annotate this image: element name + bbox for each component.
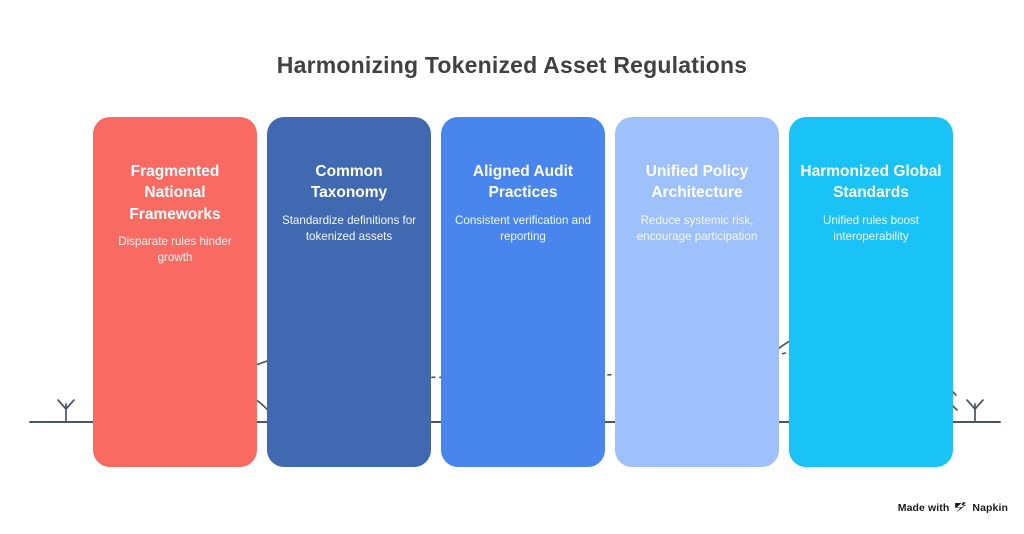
infographic-canvas: Harmonizing Tokenized Asset Regulations [0, 0, 1024, 534]
card-fragmented-national-frameworks[interactable]: Fragmented National Frameworks Disparate… [93, 117, 257, 467]
card-row: Fragmented National Frameworks Disparate… [0, 0, 1024, 534]
card-title: Fragmented National Frameworks [103, 161, 247, 225]
napkin-watermark: Made with Napkin [898, 501, 1008, 514]
card-description: Consistent verification and reporting [451, 213, 595, 245]
card-description: Unified rules boost interoperability [799, 213, 943, 245]
card-description: Disparate rules hinder growth [103, 234, 247, 266]
card-harmonized-global-standards[interactable]: Harmonized Global Standards Unified rule… [789, 117, 953, 467]
card-title: Aligned Audit Practices [451, 161, 595, 204]
card-title: Harmonized Global Standards [799, 161, 943, 204]
card-description: Reduce systemic risk, encourage particip… [625, 213, 769, 245]
watermark-brand: Napkin [972, 502, 1008, 514]
card-title: Unified Policy Architecture [625, 161, 769, 204]
card-title: Common Taxonomy [277, 161, 421, 204]
card-common-taxonomy[interactable]: Common Taxonomy Standardize definitions … [267, 117, 431, 467]
napkin-logo-icon [954, 501, 967, 514]
card-description: Standardize definitions for tokenized as… [277, 213, 421, 245]
watermark-prefix: Made with [898, 502, 950, 514]
card-aligned-audit-practices[interactable]: Aligned Audit Practices Consistent verif… [441, 117, 605, 467]
card-unified-policy-architecture[interactable]: Unified Policy Architecture Reduce syste… [615, 117, 779, 467]
